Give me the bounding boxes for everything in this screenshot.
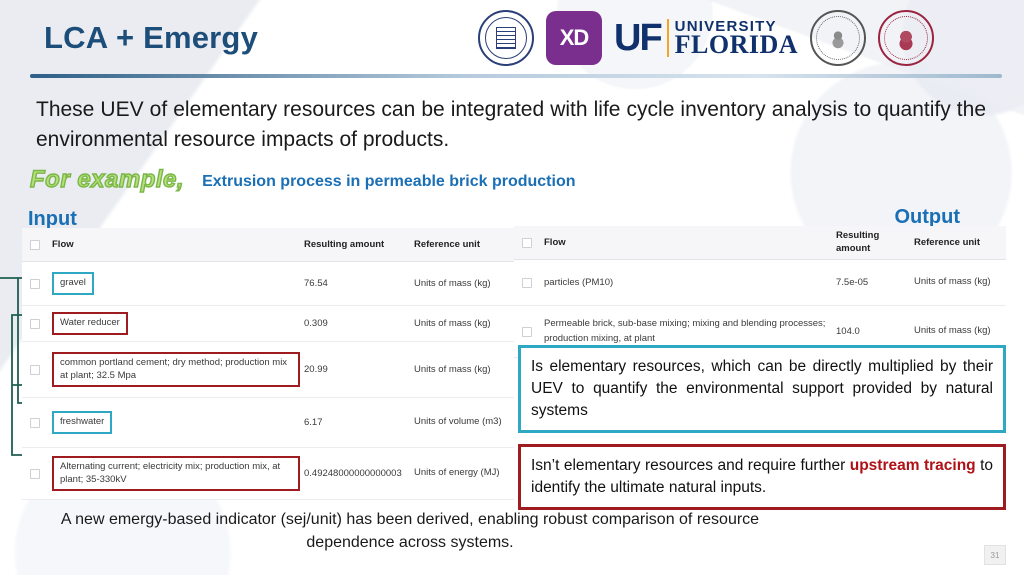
purple-logo-label: XD [560,25,589,51]
row-unit: Units of mass (kg) [914,275,1006,289]
row-flow-label: common portland cement; dry method; prod… [52,352,300,387]
row-amount: 104.0 [836,326,914,337]
table-row[interactable]: Water reducer 0.309 Units of mass (kg) [22,306,514,342]
row-unit: Units of volume (m3) [414,415,514,429]
row-checkbox[interactable] [514,278,540,288]
uf-florida-word: FLORIDA [675,32,798,58]
output-flow-table: Flow Resulting amount Reference unit par… [514,226,1006,358]
output-table-header: Flow Resulting amount Reference unit [514,226,1006,260]
callout-upstream-tracing: Isn’t elementary resources and require f… [518,444,1006,510]
table-row[interactable]: particles (PM10) 7.5e-05 Units of mass (… [514,260,1006,306]
callout-red-text-start: Isn’t elementary resources and require f… [531,457,850,474]
input-col-flow: Flow [48,233,304,256]
ca-foscari-venezia-seal-icon [878,10,934,66]
row-amount: 0.309 [304,318,414,329]
output-col-unit: Reference unit [914,231,1006,254]
logo-strip: XD UF UNIVERSITY FLORIDA [478,9,934,67]
table-row[interactable]: common portland cement; dry method; prod… [22,342,514,398]
table-row[interactable]: gravel 76.54 Units of mass (kg) [22,262,514,306]
row-unit: Units of mass (kg) [414,364,514,375]
example-heading-row: For example, Extrusion process in permea… [30,166,575,194]
example-subject-label: Extrusion process in permeable brick pro… [202,173,575,194]
purple-square-logo-icon: XD [546,11,602,65]
row-flow-label: freshwater [52,411,112,433]
row-flow-label: Permeable brick, sub-base mixing; mixing… [540,317,836,346]
intro-paragraph: These UEV of elementary resources can be… [36,95,986,155]
row-amount: 0.49248000000000003 [304,468,414,479]
university-of-florida-logo-icon: UF UNIVERSITY FLORIDA [614,12,798,64]
table-row[interactable]: Alternating current; electricity mix; pr… [22,448,514,500]
row-unit: Units of mass (kg) [414,278,514,289]
for-example-label: For example, [30,166,184,194]
row-checkbox[interactable] [22,279,48,289]
input-col-amount: Resulting amount [304,233,414,256]
row-flow-label: Water reducer [52,312,128,334]
parthenope-university-seal-icon [810,10,866,66]
input-col-unit: Reference unit [414,233,514,256]
row-unit: Units of mass (kg) [414,318,514,329]
input-flow-table: Flow Resulting amount Reference unit gra… [22,228,514,500]
row-amount: 6.17 [304,417,414,428]
row-flow-label: Alternating current; electricity mix; pr… [52,456,300,491]
row-checkbox[interactable] [514,327,540,337]
beijing-normal-university-seal-icon [478,10,534,66]
page-title: LCA + Emergy [44,20,258,56]
select-all-checkbox-output[interactable] [514,238,540,248]
select-all-checkbox-input[interactable] [22,240,48,250]
callout-elementary-resources: Is elementary resources, which can be di… [518,345,1006,433]
output-col-amount: Resulting amount [836,224,914,262]
row-amount: 20.99 [304,364,414,375]
slide-header: LCA + Emergy XD UF UNIVERSITY FLORIDA [0,0,1024,78]
table-row[interactable]: freshwater 6.17 Units of volume (m3) [22,398,514,448]
page-number-badge: 31 [984,545,1006,565]
uf-divider [667,19,669,57]
row-amount: 7.5e-05 [836,277,914,288]
row-checkbox[interactable] [22,469,48,479]
uf-monogram: UF [614,19,661,57]
input-table-header: Flow Resulting amount Reference unit [22,228,514,262]
row-unit: Units of mass (kg) [914,324,1006,338]
row-flow-label: gravel [52,272,94,294]
row-checkbox[interactable] [22,365,48,375]
row-checkbox[interactable] [22,418,48,428]
row-checkbox[interactable] [22,319,48,329]
slide: LCA + Emergy XD UF UNIVERSITY FLORIDA [0,0,1024,575]
header-divider [30,74,1002,78]
row-flow-label: particles (PM10) [540,277,836,288]
callout-red-emphasis: upstream tracing [850,457,976,474]
output-col-flow: Flow [540,231,836,254]
row-amount: 76.54 [304,278,414,289]
row-unit: Units of energy (MJ) [414,466,514,480]
footer-caption: A new emergy-based indicator (sej/unit) … [60,508,760,554]
